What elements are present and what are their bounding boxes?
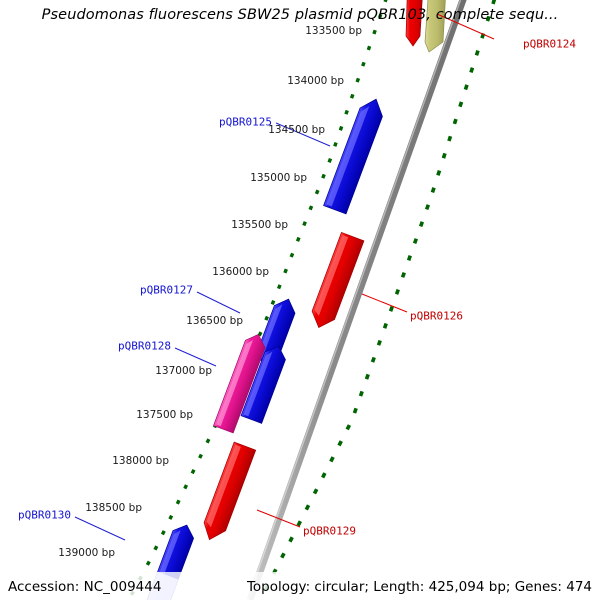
tick-label: 138500 bp (85, 502, 142, 514)
genome-map-viewer[interactable]: Pseudomonas fluorescens SBW25 plasmid pQ… (0, 0, 600, 600)
tick-label: 136000 bp (212, 266, 269, 278)
tick-label: 136500 bp (186, 315, 243, 327)
leader-pQBR0130 (75, 517, 125, 540)
gene-label-pQBR0126[interactable]: pQBR0126 (410, 310, 463, 323)
gene-label-pQBR0128[interactable]: pQBR0128 (118, 340, 171, 353)
tick-label: 138000 bp (112, 455, 169, 467)
leader-pQBR0128 (175, 348, 216, 366)
gene-label-pQBR0125[interactable]: pQBR0125 (219, 116, 272, 129)
tick-label: 139000 bp (58, 547, 115, 559)
page-title: Pseudomonas fluorescens SBW25 plasmid pQ… (0, 7, 600, 23)
tick-label: 134000 bp (287, 75, 344, 87)
accession-text: Accession: NC_009444 (8, 579, 161, 595)
gene-label-pQBR0130[interactable]: pQBR0130 (18, 509, 71, 522)
gene-label-pQBR0129[interactable]: pQBR0129 (303, 525, 356, 538)
tick-label: 137000 bp (155, 365, 212, 377)
gene-label-pQBR0127[interactable]: pQBR0127 (140, 284, 193, 297)
tick-label: 135500 bp (231, 219, 288, 231)
genome-summary-text: Topology: circular; Length: 425,094 bp; … (247, 579, 592, 595)
tick-arc-inner (118, 0, 392, 600)
gene-glyph-pQBR0129[interactable] (199, 442, 256, 544)
gene-glyph-pQBR0125[interactable] (324, 95, 388, 214)
status-bar: Accession: NC_009444 Topology: circular;… (0, 572, 600, 600)
tick-label: 135000 bp (250, 172, 307, 184)
gene-label-pQBR0124[interactable]: pQBR0124 (523, 38, 576, 51)
tick-label: 133500 bp (305, 25, 362, 37)
leader-pQBR0127 (197, 292, 240, 313)
gene-glyph-pQBR0126[interactable] (307, 232, 363, 331)
tick-label: 134500 bp (268, 124, 325, 136)
leader-pQBR0126 (362, 294, 407, 312)
tick-label: 137500 bp (136, 409, 193, 421)
genome-backbone (248, 0, 470, 600)
